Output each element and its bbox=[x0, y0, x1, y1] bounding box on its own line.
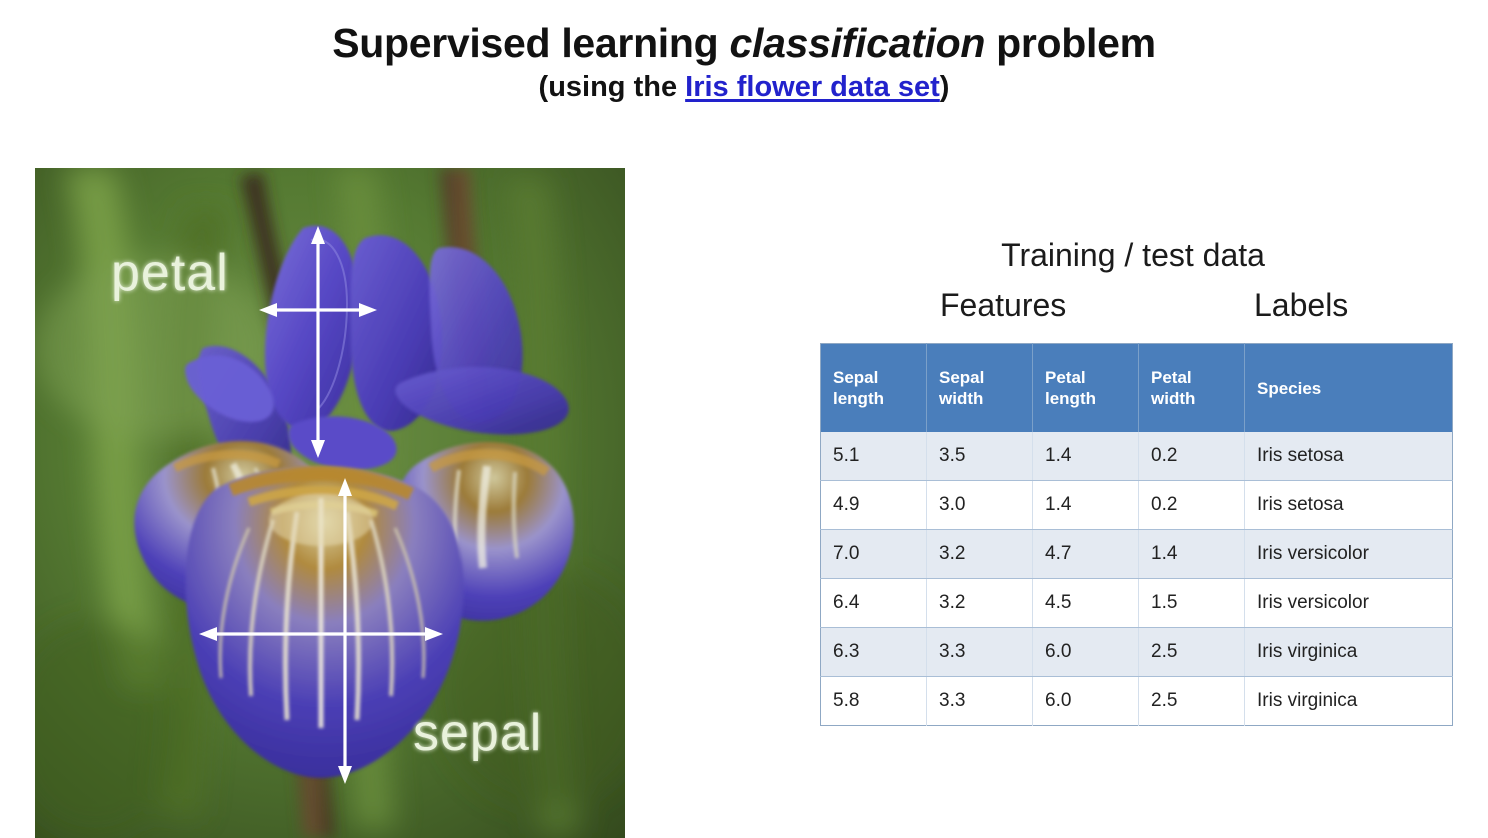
column-header-sepal-width[interactable]: Sepal width bbox=[927, 344, 1033, 433]
cell-petal-length: 1.4 bbox=[1033, 432, 1139, 481]
features-heading: Features bbox=[940, 287, 1066, 324]
table-row: 4.9 3.0 1.4 0.2 Iris setosa bbox=[821, 481, 1453, 530]
cell-petal-length: 6.0 bbox=[1033, 628, 1139, 677]
subtitle-prefix: (using the bbox=[539, 71, 686, 103]
table-header: Sepal length Sepal width Petal length Pe… bbox=[821, 344, 1453, 433]
column-group-headings: Features Labels bbox=[820, 287, 1460, 333]
cell-sepal-length: 7.0 bbox=[821, 530, 927, 579]
subtitle-suffix: ) bbox=[940, 71, 950, 103]
petal-annotation-label: petal bbox=[111, 244, 229, 302]
cell-species: Iris versicolor bbox=[1245, 530, 1453, 579]
cell-petal-width: 2.5 bbox=[1139, 628, 1245, 677]
page-title-emphasis: classification bbox=[729, 20, 985, 66]
cell-species: Iris setosa bbox=[1245, 481, 1453, 530]
cell-petal-width: 1.4 bbox=[1139, 530, 1245, 579]
cell-sepal-width: 3.3 bbox=[927, 628, 1033, 677]
column-header-sepal-length[interactable]: Sepal length bbox=[821, 344, 927, 433]
cell-petal-width: 2.5 bbox=[1139, 677, 1245, 726]
cell-sepal-length: 6.4 bbox=[821, 579, 927, 628]
iris-dataset-link[interactable]: Iris flower data set bbox=[685, 71, 940, 103]
training-data-panel: Training / test data Features Labels Sep… bbox=[820, 238, 1460, 726]
column-header-petal-length[interactable]: Petal length bbox=[1033, 344, 1139, 433]
cell-sepal-width: 3.3 bbox=[927, 677, 1033, 726]
page-title-part1: Supervised learning bbox=[332, 20, 729, 66]
cell-sepal-width: 3.2 bbox=[927, 530, 1033, 579]
iris-flower-illustration: petal sepal bbox=[35, 168, 625, 838]
table-header-row: Sepal length Sepal width Petal length Pe… bbox=[821, 344, 1453, 433]
cell-petal-length: 6.0 bbox=[1033, 677, 1139, 726]
training-test-data-heading: Training / test data bbox=[868, 238, 1398, 273]
cell-sepal-width: 3.0 bbox=[927, 481, 1033, 530]
cell-petal-length: 1.4 bbox=[1033, 481, 1139, 530]
table-row: 6.4 3.2 4.5 1.5 Iris versicolor bbox=[821, 579, 1453, 628]
cell-species: Iris versicolor bbox=[1245, 579, 1453, 628]
cell-species: Iris virginica bbox=[1245, 628, 1453, 677]
table-row: 7.0 3.2 4.7 1.4 Iris versicolor bbox=[821, 530, 1453, 579]
cell-sepal-width: 3.2 bbox=[927, 579, 1033, 628]
labels-heading: Labels bbox=[1254, 287, 1348, 324]
cell-petal-length: 4.5 bbox=[1033, 579, 1139, 628]
table-row: 6.3 3.3 6.0 2.5 Iris virginica bbox=[821, 628, 1453, 677]
table-body: 5.1 3.5 1.4 0.2 Iris setosa 4.9 3.0 1.4 … bbox=[821, 432, 1453, 726]
cell-species: Iris virginica bbox=[1245, 677, 1453, 726]
table-row: 5.8 3.3 6.0 2.5 Iris virginica bbox=[821, 677, 1453, 726]
column-header-petal-width[interactable]: Petal width bbox=[1139, 344, 1245, 433]
cell-sepal-length: 5.1 bbox=[821, 432, 927, 481]
iris-data-table: Sepal length Sepal width Petal length Pe… bbox=[820, 343, 1453, 726]
cell-petal-length: 4.7 bbox=[1033, 530, 1139, 579]
cell-petal-width: 0.2 bbox=[1139, 481, 1245, 530]
iris-flower-photo: petal sepal bbox=[35, 168, 625, 838]
cell-sepal-length: 6.3 bbox=[821, 628, 927, 677]
cell-sepal-length: 5.8 bbox=[821, 677, 927, 726]
cell-petal-width: 0.2 bbox=[1139, 432, 1245, 481]
sepal-annotation-label: sepal bbox=[413, 704, 542, 762]
cell-sepal-length: 4.9 bbox=[821, 481, 927, 530]
table-row: 5.1 3.5 1.4 0.2 Iris setosa bbox=[821, 432, 1453, 481]
page-title: Supervised learning classification probl… bbox=[0, 22, 1488, 65]
cell-petal-width: 1.5 bbox=[1139, 579, 1245, 628]
column-header-species[interactable]: Species bbox=[1245, 344, 1453, 433]
cell-species: Iris setosa bbox=[1245, 432, 1453, 481]
title-block: Supervised learning classification probl… bbox=[0, 22, 1488, 104]
cell-sepal-width: 3.5 bbox=[927, 432, 1033, 481]
page-subtitle: (using the Iris flower data set) bbox=[0, 71, 1488, 104]
page-title-part2: problem bbox=[985, 20, 1156, 66]
